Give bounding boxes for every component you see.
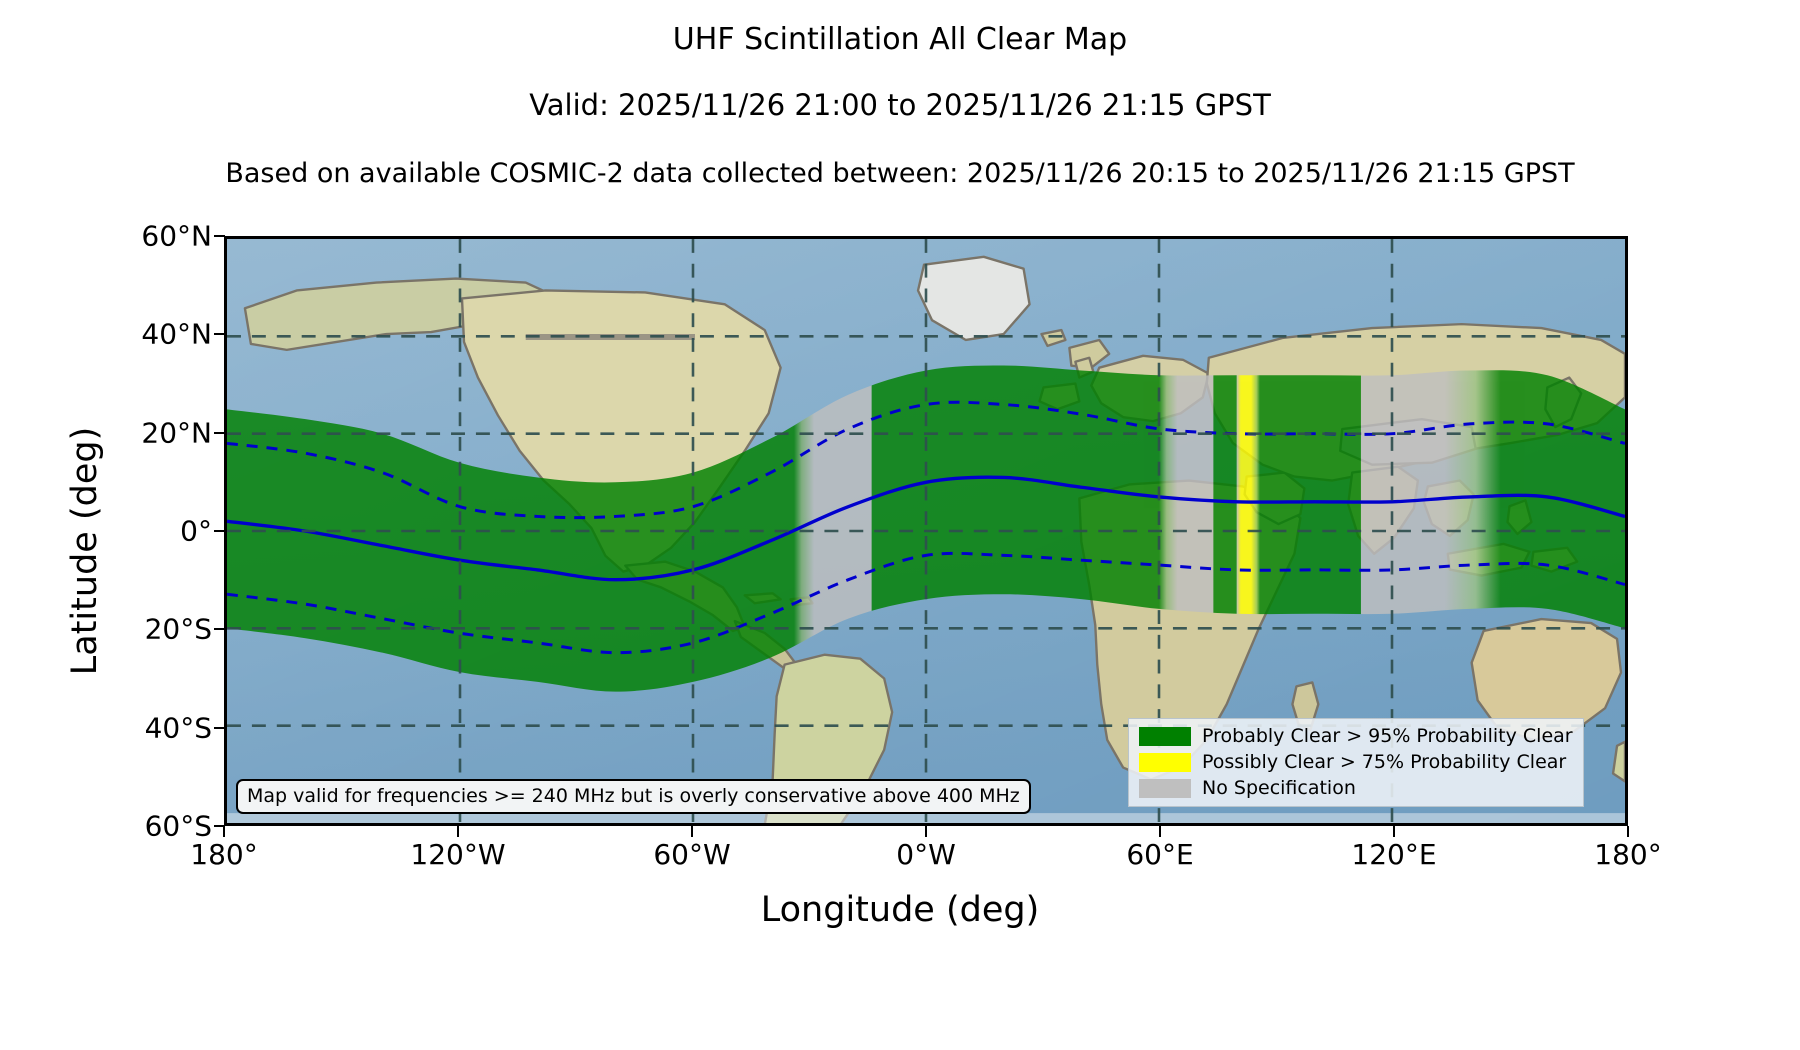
y-axis-label: Latitude (deg)	[65, 271, 105, 831]
x-tick-label-0: 180°	[190, 838, 257, 871]
x-tick-mark-4	[1159, 826, 1161, 837]
x-tick-mark-2	[691, 826, 693, 837]
y-tick-mark-1	[214, 333, 225, 335]
y-tick-mark-0	[214, 235, 225, 237]
legend-swatch-possibly-clear	[1139, 753, 1191, 772]
x-tick-label-3: 0°W	[896, 838, 956, 871]
legend-label-no-specification: No Specification	[1202, 777, 1356, 799]
legend-label-possibly-clear: Possibly Clear > 75% Probability Clear	[1202, 751, 1566, 773]
x-tick-label-1: 120°W	[410, 838, 505, 871]
page-title: UHF Scintillation All Clear Map	[0, 22, 1800, 57]
x-tick-label-6: 180°	[1594, 838, 1661, 871]
x-tick-label-4: 60°E	[1126, 838, 1193, 871]
y-tick-mark-2	[214, 432, 225, 434]
legend-swatch-no-specification	[1139, 779, 1191, 798]
x-tick-mark-0	[223, 826, 225, 837]
scintillation-map-page: UHF Scintillation All Clear Map Valid: 2…	[0, 0, 1800, 1050]
legend-row-probably-clear: Probably Clear > 95% Probability Clear	[1139, 725, 1573, 747]
legend-label-probably-clear: Probably Clear > 95% Probability Clear	[1202, 725, 1573, 747]
frequency-note-text: Map valid for frequencies >= 240 MHz but…	[247, 785, 1020, 807]
legend-swatch-probably-clear	[1139, 727, 1191, 746]
y-tick-mark-4	[214, 628, 225, 630]
x-tick-mark-3	[925, 826, 927, 837]
x-tick-mark-5	[1393, 826, 1395, 837]
frequency-note-box: Map valid for frequencies >= 240 MHz but…	[236, 779, 1031, 814]
y-tick-mark-5	[214, 727, 225, 729]
data-source-subtitle: Based on available COSMIC-2 data collect…	[0, 158, 1800, 189]
x-tick-label-5: 120°E	[1351, 838, 1436, 871]
valid-time-subtitle: Valid: 2025/11/26 21:00 to 2025/11/26 21…	[0, 88, 1800, 122]
x-tick-mark-6	[1627, 826, 1629, 837]
x-axis-label: Longitude (deg)	[0, 890, 1800, 930]
map-legend: Probably Clear > 95% Probability ClearPo…	[1128, 718, 1584, 807]
x-tick-label-2: 60°W	[653, 838, 730, 871]
y-tick-label-0: 60°N	[42, 220, 212, 253]
legend-row-no-specification: No Specification	[1139, 777, 1573, 799]
legend-row-possibly-clear: Possibly Clear > 75% Probability Clear	[1139, 751, 1573, 773]
y-tick-mark-3	[214, 530, 225, 532]
x-tick-mark-1	[457, 826, 459, 837]
